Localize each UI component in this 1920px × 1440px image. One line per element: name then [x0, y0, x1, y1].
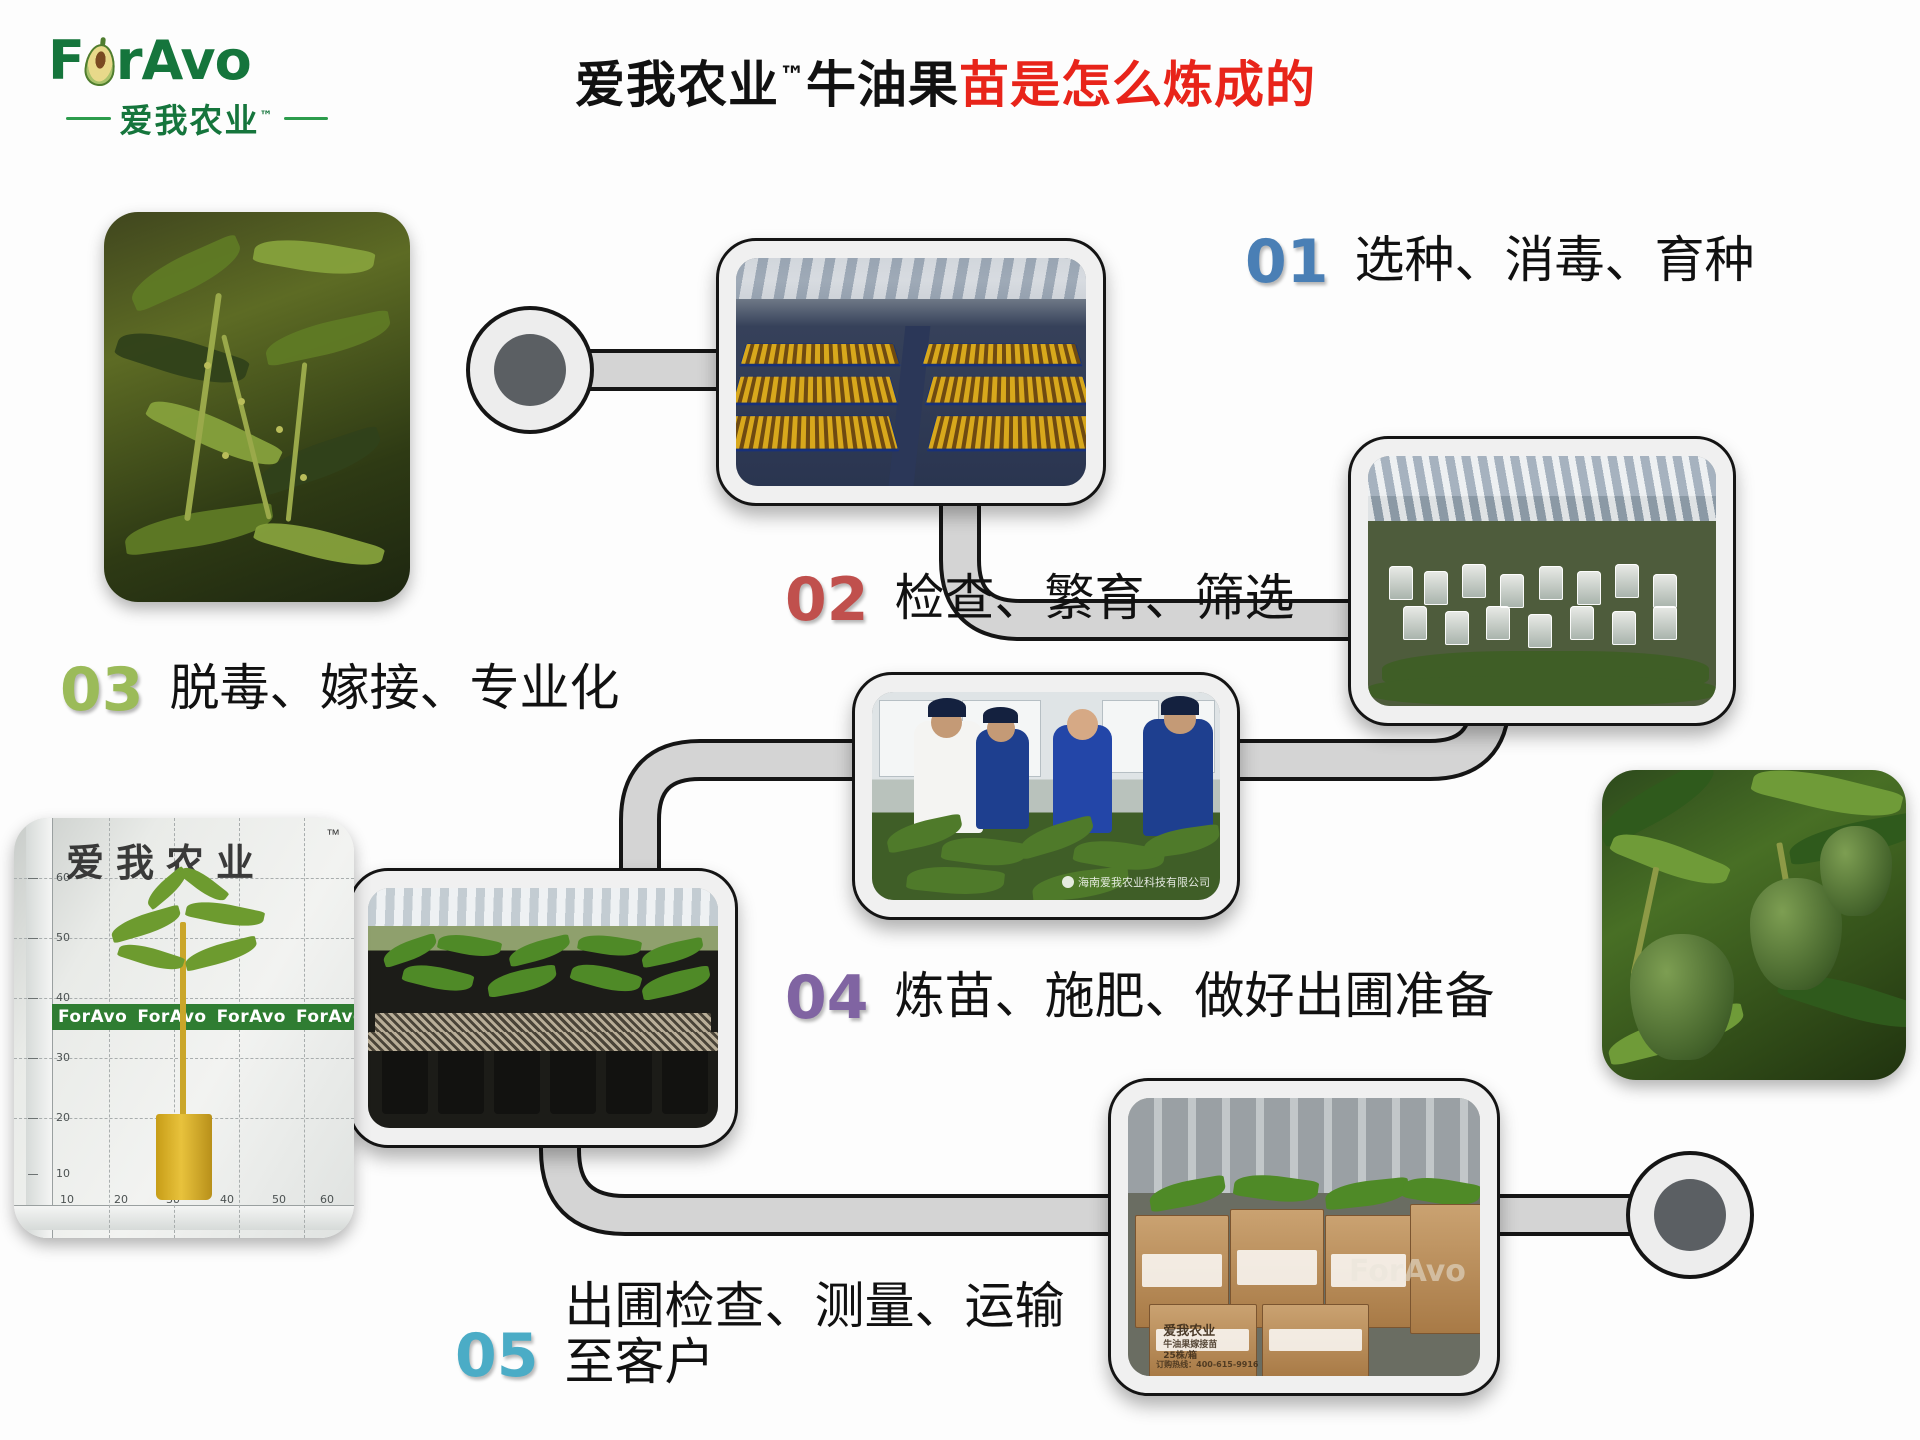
band-text-4: ForAvo — [296, 1007, 354, 1027]
photo-staff-inspecting-seedlings: 海南爱我农业科技有限公司 — [852, 672, 1240, 920]
photo-greenhouse-bagged-plants — [1348, 436, 1736, 726]
photo-seedling-measurement-board: 60 50 40 30 20 10 10 20 30 40 50 60 爱我农业… — [14, 818, 354, 1238]
photo-frame-inner-bags — [1368, 456, 1716, 706]
photo-art-people: 海南爱我农业科技有限公司 — [872, 692, 1220, 900]
step-03: 03 脱毒、嫁接、专业化 — [60, 660, 620, 720]
step-05: 05 出圃检查、测量、运输 至客户 — [455, 1278, 1065, 1390]
ruler-tick-v-20: 20 — [56, 1111, 70, 1124]
box-side-brand: ForAvo — [1349, 1254, 1466, 1289]
photo-watermark: 海南爱我农业科技有限公司 — [1062, 874, 1210, 890]
band-text-2: ForAvo — [137, 1007, 206, 1027]
band-text-3: ForAvo — [217, 1007, 286, 1027]
board-brand-band: ForAvo ForAvo ForAvo ForAvo — [52, 1004, 354, 1030]
photo-seed-germination-trays — [716, 238, 1106, 506]
ruler-horizontal — [14, 1205, 354, 1230]
step-04-text: 炼苗、施肥、做好出圃准备 — [895, 968, 1495, 1024]
step-05-text: 出圃检查、测量、运输 至客户 — [565, 1278, 1065, 1390]
photo-art-pots — [368, 888, 718, 1128]
photo-frame-inner-people: 海南爱我农业科技有限公司 — [872, 692, 1220, 900]
photo-avocado-flowering-branch — [104, 212, 410, 602]
photo-frame-inner-pots — [368, 888, 718, 1128]
step-01: 01 选种、消毒、育种 — [1245, 232, 1755, 292]
ruler-tick-v-50: 50 — [56, 931, 70, 944]
step-01-number: 01 — [1245, 232, 1329, 292]
photo-art-boxes: ForAvo 爱我农业 牛油果嫁接苗 25株/箱 订购热线：400-615-99… — [1128, 1098, 1480, 1376]
ruler-tick-v-30: 30 — [56, 1051, 70, 1064]
ruler-tick-h-10: 10 — [60, 1193, 74, 1206]
step-02: 02 检查、繁育、筛选 — [785, 570, 1295, 630]
step-02-number: 02 — [785, 570, 869, 630]
photo-art-trays — [736, 258, 1086, 486]
step-03-text: 脱毒、嫁接、专业化 — [170, 660, 620, 716]
step-03-number: 03 — [60, 660, 144, 720]
photo-avocado-fruit-on-tree — [1602, 770, 1906, 1080]
step-02-text: 检查、繁育、筛选 — [895, 570, 1295, 626]
step-04-number: 04 — [785, 968, 869, 1028]
step-04: 04 炼苗、施肥、做好出圃准备 — [785, 968, 1495, 1028]
ruler-tick-v-40: 40 — [56, 991, 70, 1004]
start-node-circle — [468, 308, 592, 432]
ruler-tick-h-40: 40 — [220, 1193, 234, 1206]
end-node-circle — [1628, 1153, 1752, 1277]
photo-art-bags — [1368, 456, 1716, 706]
photo-packing-boxes-shipping: ForAvo 爱我农业 牛油果嫁接苗 25株/箱 订购热线：400-615-99… — [1108, 1078, 1500, 1396]
photo-art-fruit — [1602, 770, 1906, 1080]
ruler-tick-h-50: 50 — [272, 1193, 286, 1206]
photo-frame-inner-boxes: ForAvo 爱我农业 牛油果嫁接苗 25株/箱 订购热线：400-615-99… — [1128, 1098, 1480, 1376]
step-01-text: 选种、消毒、育种 — [1355, 232, 1755, 288]
band-text-1: ForAvo — [58, 1007, 127, 1027]
photo-frame-inner-trays — [736, 258, 1086, 486]
ruler-tick-h-20: 20 — [114, 1193, 128, 1206]
watermark-text: 海南爱我农业科技有限公司 — [1078, 874, 1210, 890]
ruler-tick-v-10: 10 — [56, 1167, 70, 1180]
step-05-number: 05 — [455, 1326, 539, 1386]
board-tm: ™ — [326, 826, 340, 842]
photo-art-ruler: 60 50 40 30 20 10 10 20 30 40 50 60 爱我农业… — [14, 818, 354, 1238]
ruler-tick-h-60: 60 — [320, 1193, 334, 1206]
ruler-vertical — [26, 818, 53, 1238]
box-hotline: 订购热线：400-615-9916 — [1156, 1359, 1258, 1370]
watermark-icon — [1062, 876, 1074, 888]
photo-potted-seedlings-rows — [348, 868, 738, 1148]
photo-art-flower — [104, 212, 410, 602]
